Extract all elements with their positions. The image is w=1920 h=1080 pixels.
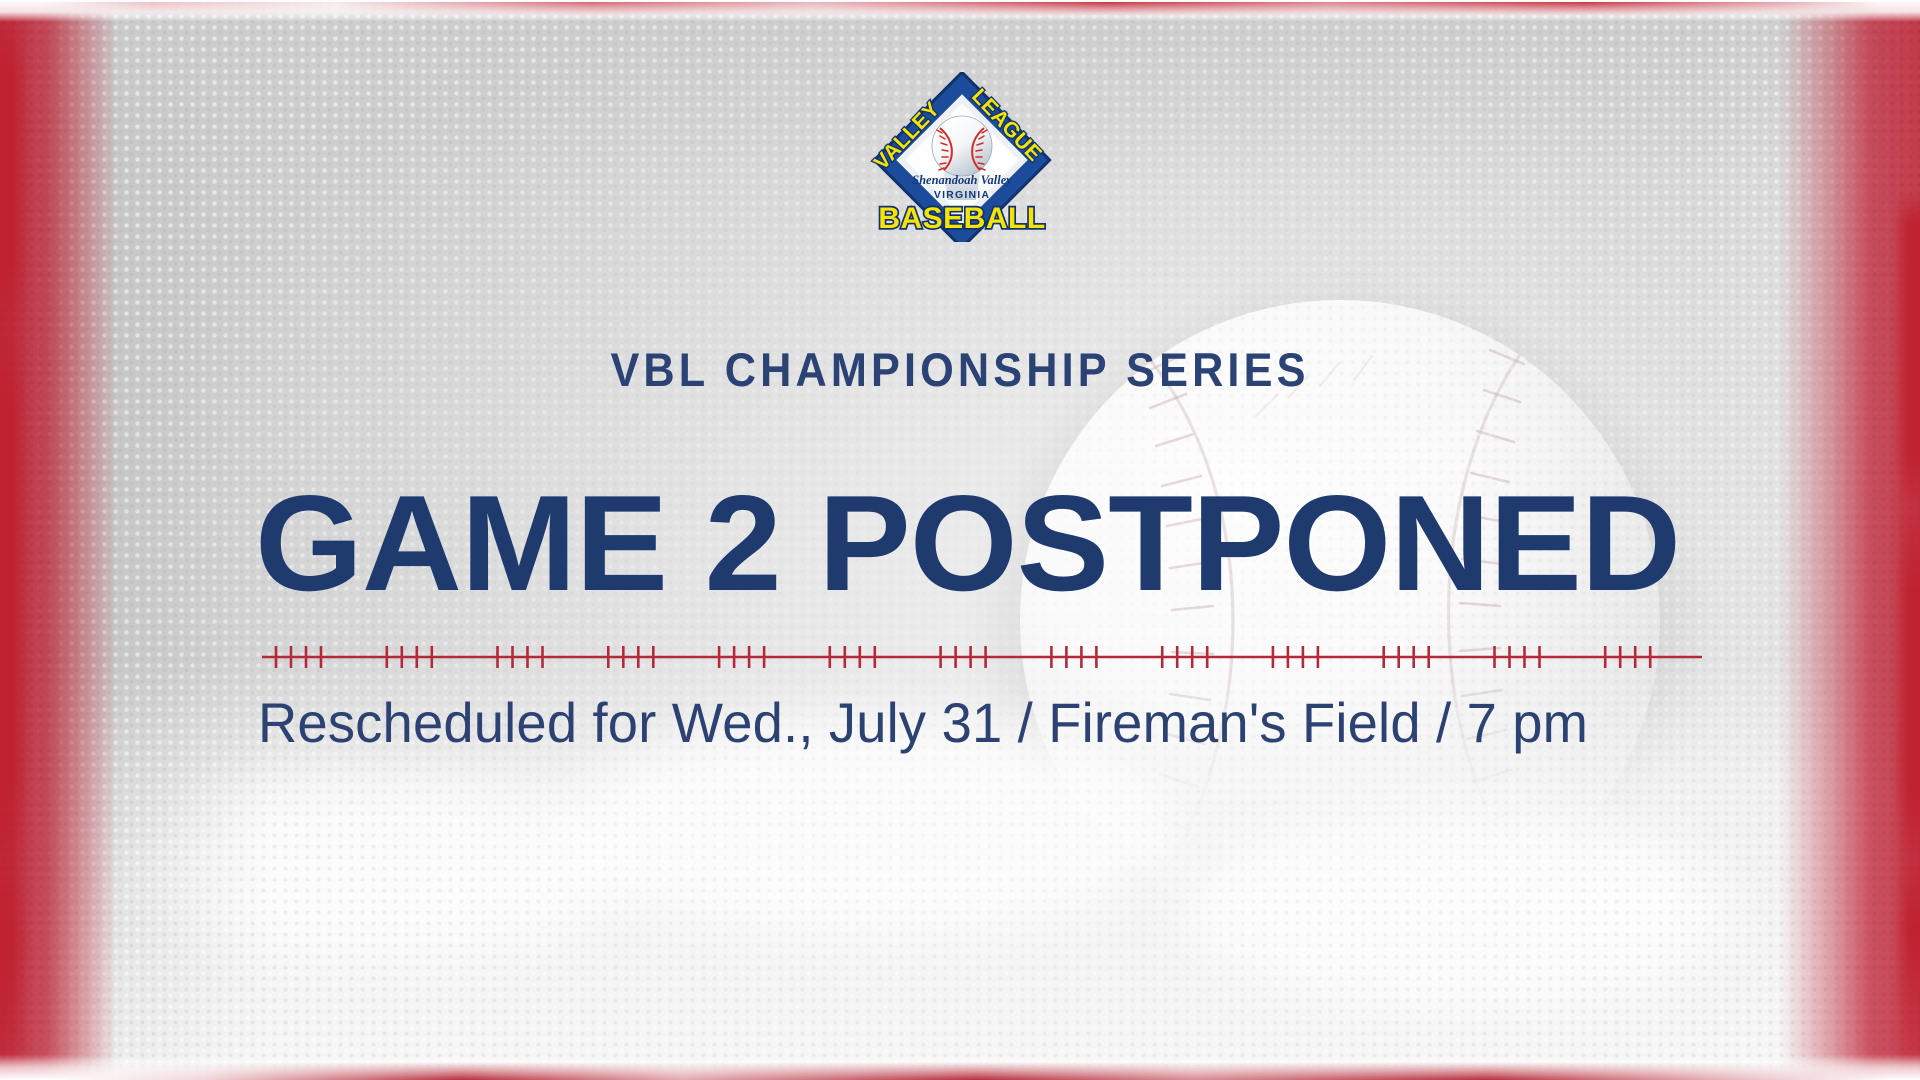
reschedule-details: Rescheduled for Wed., July 31 / Fireman'… xyxy=(258,690,1665,755)
graphic-canvas: VALLEY LEAGUE Shenandoah Valley VIRGINIA… xyxy=(0,0,1920,1080)
series-eyebrow-title: VBL CHAMPIONSHIP SERIES xyxy=(77,342,1843,397)
tick-divider xyxy=(262,644,1702,670)
announcement-content: VBL CHAMPIONSHIP SERIES GAME 2 POSTPONED… xyxy=(0,0,1920,1080)
page-title: GAME 2 POSTPONED xyxy=(255,478,1714,609)
